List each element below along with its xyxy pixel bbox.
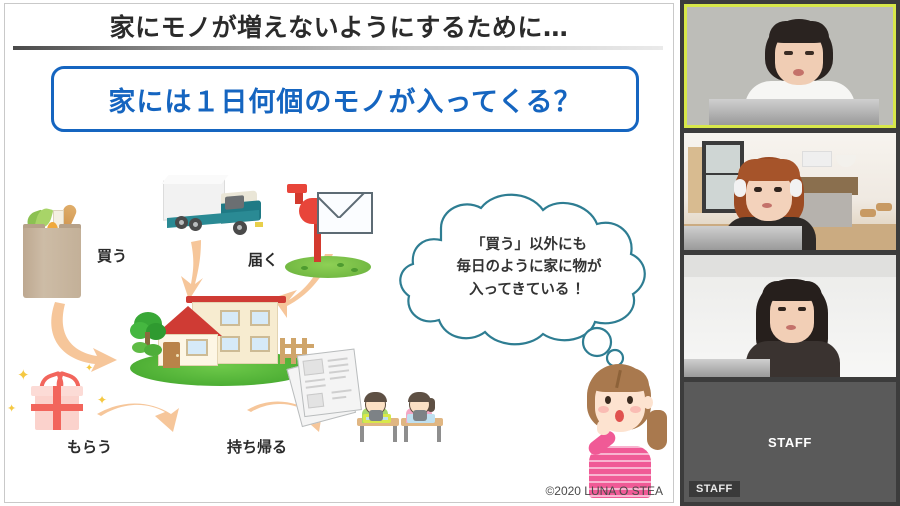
participant-strip: STAFF STAFF — [680, 0, 900, 506]
laptop-blur — [684, 226, 802, 250]
sparkle-icon: ✦ — [97, 394, 107, 406]
title-divider — [13, 46, 663, 50]
thought-bubble-text: 「買う」以外にも 毎日のように家に物が 入ってきている ！ — [383, 234, 674, 301]
thinking-girl-illustration — [573, 362, 673, 502]
thought-bubble: 「買う」以外にも 毎日のように家に物が 入ってきている ！ — [383, 176, 674, 366]
participant-name-badge: STAFF — [689, 481, 740, 497]
laptop-blur — [709, 99, 879, 125]
participant-tile-2[interactable] — [684, 133, 896, 250]
gift-box-illustration — [23, 374, 89, 436]
participant-tile-1[interactable] — [684, 4, 896, 128]
slide-title: 家にモノが増えないようにするために… — [5, 8, 673, 44]
grocery-bag-illustration — [15, 202, 89, 298]
envelope-illustration — [317, 192, 373, 234]
participant-tile-4-staff[interactable]: STAFF STAFF — [684, 382, 896, 502]
presentation-slide: 家にモノが増えないようにするために… 家には１日何個のモノが入ってくる？ — [4, 3, 674, 503]
delivery-truck-illustration — [163, 174, 271, 242]
participant-tile-3[interactable] — [684, 255, 896, 377]
copyright-text: ©2020 LUNA O STEA — [545, 484, 663, 498]
newspaper-illustration — [289, 348, 367, 428]
video-conference-window: 家にモノが増えないようにするために… 家には１日何個のモノが入ってくる？ — [0, 0, 900, 506]
sparkle-icon: ✦ — [7, 404, 16, 415]
label-bring-home: 持ち帰る — [227, 436, 287, 457]
house-illustration — [130, 282, 315, 402]
label-deliver: 届く — [248, 249, 278, 270]
students-illustration — [357, 392, 447, 458]
screen-share-area: 家にモノが増えないようにするために… 家には１日何個のモノが入ってくる？ — [0, 0, 680, 506]
sparkle-icon: ✦ — [85, 364, 93, 374]
question-callout-box: 家には１日何個のモノが入ってくる？ — [51, 66, 639, 132]
question-text: 家には１日何個のモノが入ってくる？ — [108, 80, 581, 119]
laptop-blur — [684, 359, 770, 377]
label-receive: もらう — [67, 436, 112, 457]
label-buy: 買う — [97, 245, 127, 266]
